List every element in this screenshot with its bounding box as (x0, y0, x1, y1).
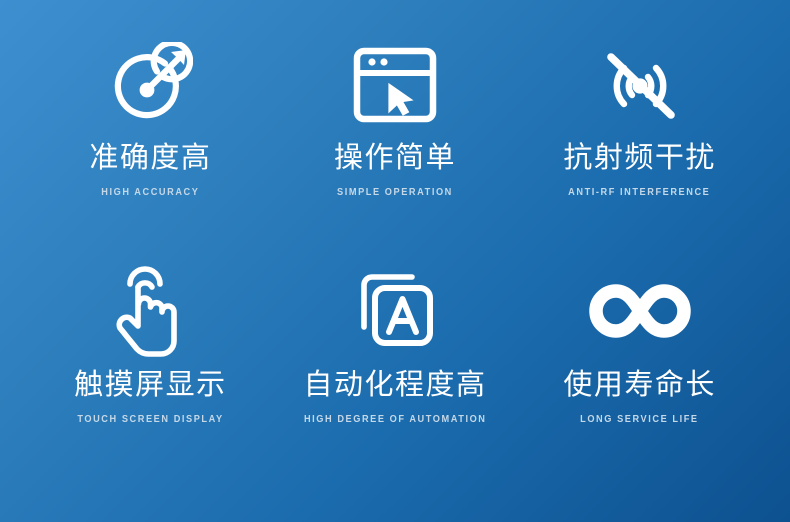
target-arrow-icon (107, 32, 193, 138)
feature-title: 使用寿命长 (563, 371, 716, 400)
feature-subtitle: TOUCH SCREEN DISPLAY (77, 414, 223, 425)
feature-subtitle: HIGH DEGREE OF AUTOMATION (304, 414, 487, 425)
feature-subtitle: SIMPLE OPERATION (337, 187, 453, 198)
feature-title: 触摸屏显示 (74, 371, 227, 400)
feature-subtitle: ANTI-RF INTERFERENCE (569, 187, 711, 198)
feature-item-high-accuracy: 准确度高 HIGH ACCURACY (28, 32, 273, 259)
feature-title: 自动化程度高 (303, 371, 486, 400)
feature-item-anti-rf-interference: 抗射频干扰 ANTI-RF INTERFERENCE (517, 32, 762, 259)
feature-title: 操作简单 (334, 144, 456, 173)
feature-item-touch-screen-display: 触摸屏显示 TOUCH SCREEN DISPLAY (28, 259, 273, 486)
feature-title: 准确度高 (89, 144, 211, 173)
features-panel: 准确度高 HIGH ACCURACY 操作简单 SIMPLE OPERATION (0, 0, 790, 522)
feature-item-simple-operation: 操作简单 SIMPLE OPERATION (273, 32, 518, 259)
browser-window-cursor-icon (351, 32, 439, 138)
feature-subtitle: HIGH ACCURACY (101, 187, 199, 198)
touch-hand-icon (109, 259, 191, 363)
feature-item-long-service-life: 使用寿命长 LONG SERVICE LIFE (517, 259, 762, 486)
feature-item-high-degree-automation: 自动化程度高 HIGH DEGREE OF AUTOMATION (273, 259, 518, 486)
infinity-icon (585, 259, 695, 363)
feature-subtitle: LONG SERVICE LIFE (580, 414, 698, 425)
signal-off-icon (594, 32, 686, 138)
feature-title: 抗射频干扰 (563, 144, 716, 173)
letter-a-cards-icon (350, 259, 440, 363)
